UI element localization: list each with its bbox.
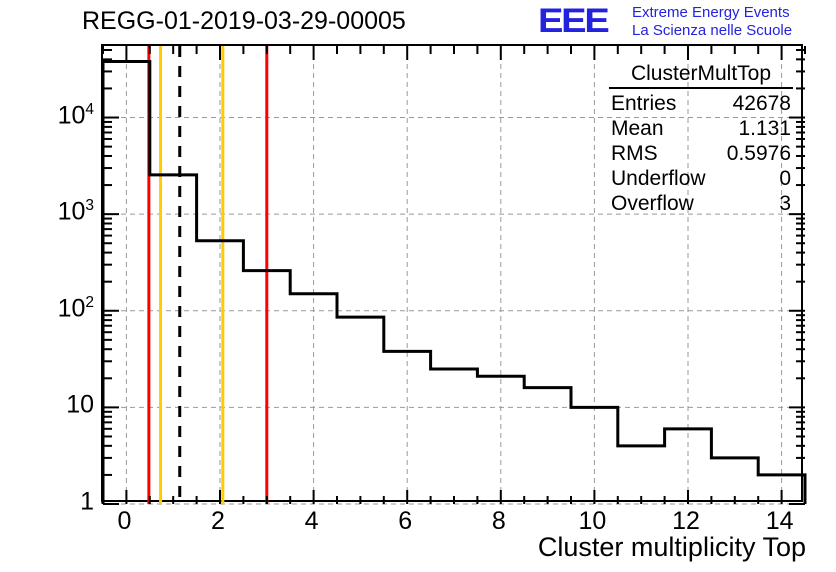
y-axis-tick-label: 103: [58, 198, 94, 227]
stats-row-value: 1.131: [738, 116, 791, 141]
stats-row: Mean1.131: [607, 116, 795, 141]
page-title: REGG-01-2019-03-29-00005: [82, 7, 406, 36]
x-axis-tick-label: 8: [492, 507, 506, 536]
x-axis-tick-label: 4: [305, 507, 319, 536]
root-canvas: REGG-01-2019-03-29-00005 EEE Extreme Ene…: [0, 0, 836, 572]
x-axis-tick-label: 2: [211, 507, 225, 536]
y-axis-tick-label: 104: [58, 101, 94, 130]
y-axis-tick-label: 102: [58, 294, 94, 323]
stats-row-label: Mean: [611, 116, 664, 141]
x-axis-title: Cluster multiplicity Top: [538, 532, 806, 563]
x-axis-tick-label: 0: [117, 507, 131, 536]
stats-title: ClusterMultTop: [609, 62, 793, 89]
eee-logo: EEE Extreme Energy Events La Scienza nel…: [538, 2, 834, 42]
stats-rows: Entries42678Mean1.131RMS0.5976Underflow0…: [607, 91, 795, 216]
eee-logo-line1: Extreme Energy Events: [632, 4, 790, 21]
stats-row-label: Underflow: [611, 166, 706, 191]
stats-row: Underflow0: [607, 166, 795, 191]
y-axis-tick-label: 1: [80, 488, 94, 517]
y-axis-tick-label: 10: [66, 391, 94, 420]
stats-row-value: 0.5976: [727, 141, 791, 166]
stats-row: Entries42678: [607, 91, 795, 116]
x-axis-tick-label: 6: [398, 507, 412, 536]
eee-logo-mark: EEE: [538, 2, 607, 40]
marker-lines-layer: [149, 46, 267, 504]
stats-row: RMS0.5976: [607, 141, 795, 166]
stats-row: Overflow3: [607, 191, 795, 216]
stats-row-label: Entries: [611, 91, 676, 116]
stats-row-value: 42678: [733, 91, 791, 116]
stats-row-value: 0: [779, 166, 791, 191]
stats-row-label: RMS: [611, 141, 658, 166]
eee-logo-line2: La Scienza nelle Scuole: [632, 22, 792, 39]
stats-box: ClusterMultTop Entries42678Mean1.131RMS0…: [607, 62, 795, 216]
stats-row-label: Overflow: [611, 191, 694, 216]
stats-row-value: 3: [779, 191, 791, 216]
